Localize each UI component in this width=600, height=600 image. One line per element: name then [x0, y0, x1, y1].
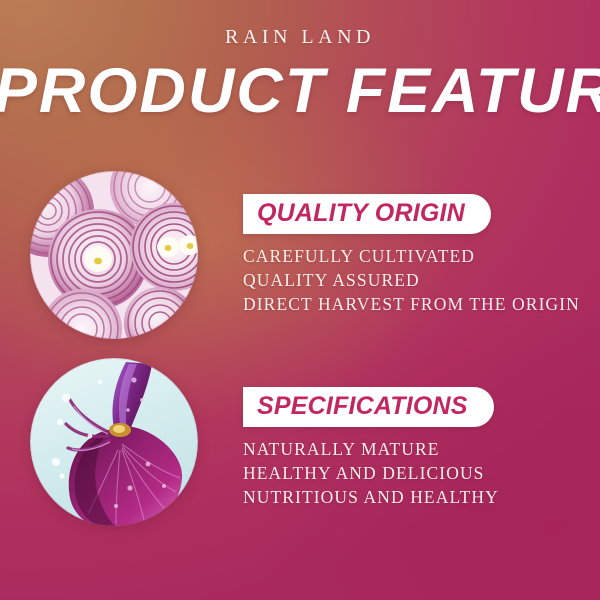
feature-line: QUALITY ASSURED — [243, 269, 583, 292]
feature-line: NUTRITIOUS AND HEALTHY — [243, 486, 583, 509]
onion-slices-image — [30, 171, 198, 339]
feature-block-specifications: SPECIFICATIONS NATURALLY MATURE HEALTHY … — [243, 387, 583, 510]
feature-lines-quality-origin: CAREFULLY CULTIVATED QUALITY ASSURED DIR… — [243, 245, 583, 316]
feature-line: HEALTHY AND DELICIOUS — [243, 462, 583, 485]
feature-badge-quality-origin: QUALITY ORIGIN — [243, 194, 491, 234]
feature-line: NATURALLY MATURE — [243, 438, 583, 461]
onion-splash-image — [30, 358, 198, 526]
feature-line: DIRECT HARVEST FROM THE ORIGIN — [243, 293, 583, 316]
feature-block-quality-origin: QUALITY ORIGIN CAREFULLY CULTIVATED QUAL… — [243, 194, 583, 317]
feature-badge-specifications: SPECIFICATIONS — [243, 387, 494, 427]
brand-name: RAIN LAND — [0, 26, 600, 49]
feature-lines-specifications: NATURALLY MATURE HEALTHY AND DELICIOUS N… — [243, 438, 583, 509]
feature-line: CAREFULLY CULTIVATED — [243, 245, 583, 268]
page-title: PRODUCT FEATURE — [0, 62, 600, 120]
product-feature-poster: RAIN LAND PRODUCT FEATURE — [0, 0, 600, 600]
